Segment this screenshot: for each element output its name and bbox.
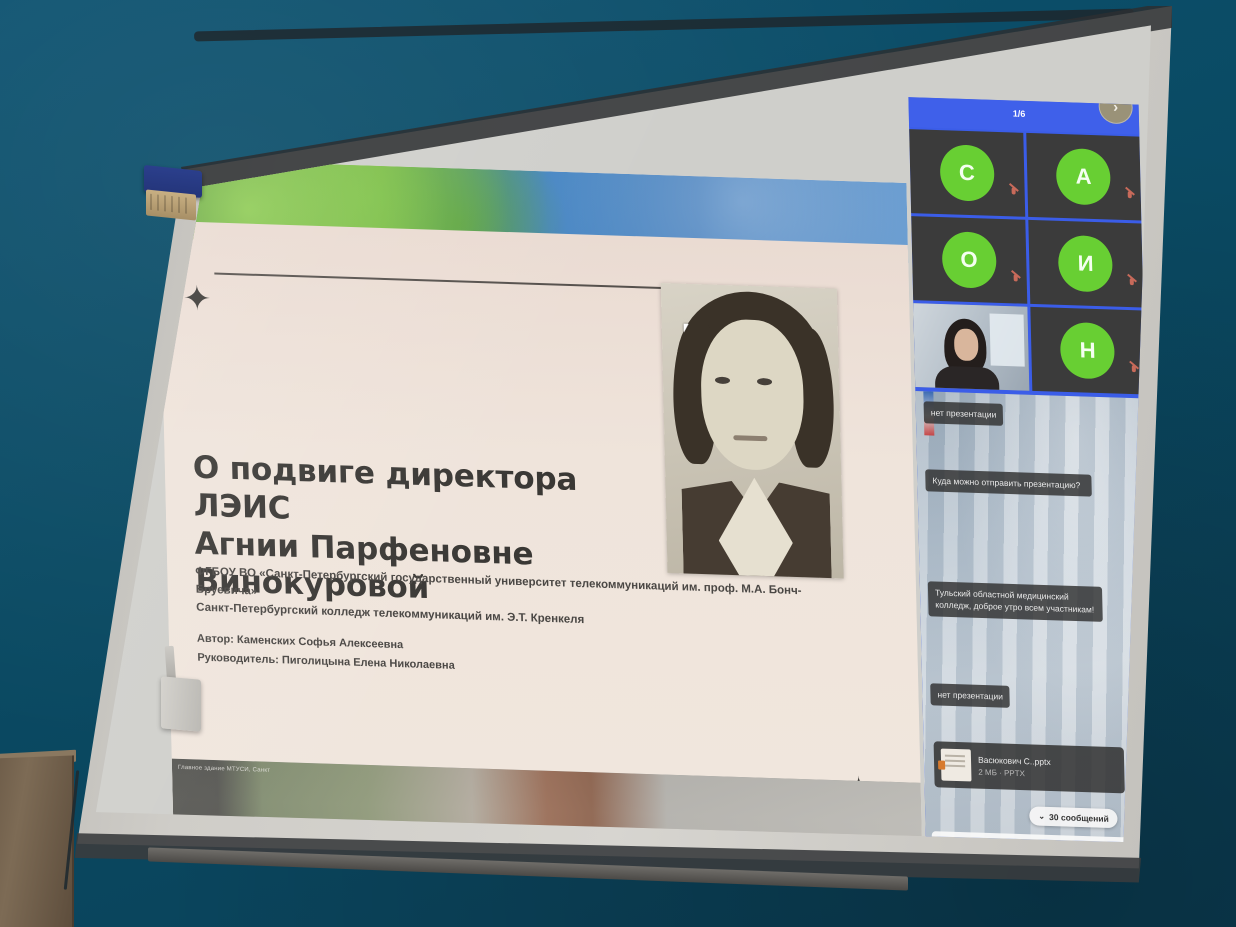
portrait-photo	[661, 283, 844, 579]
pptx-file-icon	[941, 749, 972, 782]
participant-tile[interactable]: О	[911, 216, 1027, 304]
portrait-mouth	[733, 435, 767, 441]
classroom-scene: ✦ О подвиге директора ЛЭИС Агнии Парфено…	[0, 0, 1236, 927]
file-meta: Васюкович С..pptx 2 МБ · PPTX	[978, 755, 1051, 779]
video-person-face	[954, 328, 979, 361]
mic-muted-icon	[1126, 191, 1134, 202]
chat-message: Тульский областной медицинский колледж, …	[928, 581, 1103, 621]
portrait-eye-left	[715, 377, 730, 384]
unread-messages-label: 30 сообщений	[1049, 811, 1109, 823]
chat-file-attachment[interactable]: Васюкович С..pptx 2 МБ · PPTX	[934, 741, 1125, 793]
board-screen[interactable]: ✦ О подвиге директора ЛЭИС Агнии Парфено…	[66, 6, 1172, 886]
participant-grid: С А О И	[909, 127, 1145, 398]
board-sensor-mount	[146, 189, 196, 220]
chevron-right-icon[interactable]: ›	[1098, 97, 1133, 124]
video-person-body	[935, 366, 1000, 391]
mic-muted-icon	[1009, 187, 1017, 198]
participant-tile[interactable]: Н	[1030, 307, 1146, 395]
mouse-cursor-icon	[684, 324, 693, 333]
participant-video-tile[interactable]	[913, 303, 1029, 391]
avatar: О	[941, 231, 996, 289]
chat-panel[interactable]: нет презентации Куда можно отправить пре…	[915, 391, 1156, 856]
avatar: И	[1058, 235, 1113, 293]
unread-messages-badge[interactable]: ⌄ 30 сообщений	[1029, 806, 1118, 828]
conference-sidebar[interactable]: 1/6 › С А О	[908, 97, 1157, 886]
slide-title-line-1: О подвиге директора ЛЭИС	[192, 450, 664, 541]
chevron-down-icon: ⌄	[1038, 812, 1045, 821]
file-name: Васюкович С..pptx	[978, 755, 1051, 767]
participants-page-indicator: 1/6	[1013, 109, 1026, 119]
star-decoration-icon: ✦	[183, 281, 212, 316]
avatar: Н	[1060, 322, 1115, 380]
video-window-light	[989, 314, 1024, 367]
shared-presentation-slide[interactable]: ✦ О подвиге директора ЛЭИС Агнии Парфено…	[158, 159, 923, 883]
chat-message: нет презентации	[924, 401, 1004, 426]
chat-message: нет презентации	[930, 683, 1010, 708]
avatar: А	[1056, 148, 1111, 206]
avatar: С	[939, 144, 994, 202]
mic-muted-icon	[1130, 365, 1138, 376]
interactive-whiteboard[interactable]: ✦ О подвиге директора ЛЭИС Агнии Парфено…	[66, 6, 1172, 886]
board-side-module[interactable]	[161, 676, 201, 731]
participant-tile[interactable]: А	[1026, 133, 1142, 221]
mic-muted-icon	[1011, 274, 1019, 285]
file-size: 2 МБ · PPTX	[978, 768, 1051, 779]
participant-tile[interactable]: И	[1028, 220, 1144, 308]
mic-muted-icon	[1128, 278, 1136, 289]
screen-surface: ✦ О подвиге директора ЛЭИС Агнии Парфено…	[66, 6, 1172, 886]
portrait-eye-right	[757, 378, 772, 385]
wooden-cabinet	[0, 755, 74, 927]
participant-tile[interactable]: С	[909, 129, 1025, 217]
